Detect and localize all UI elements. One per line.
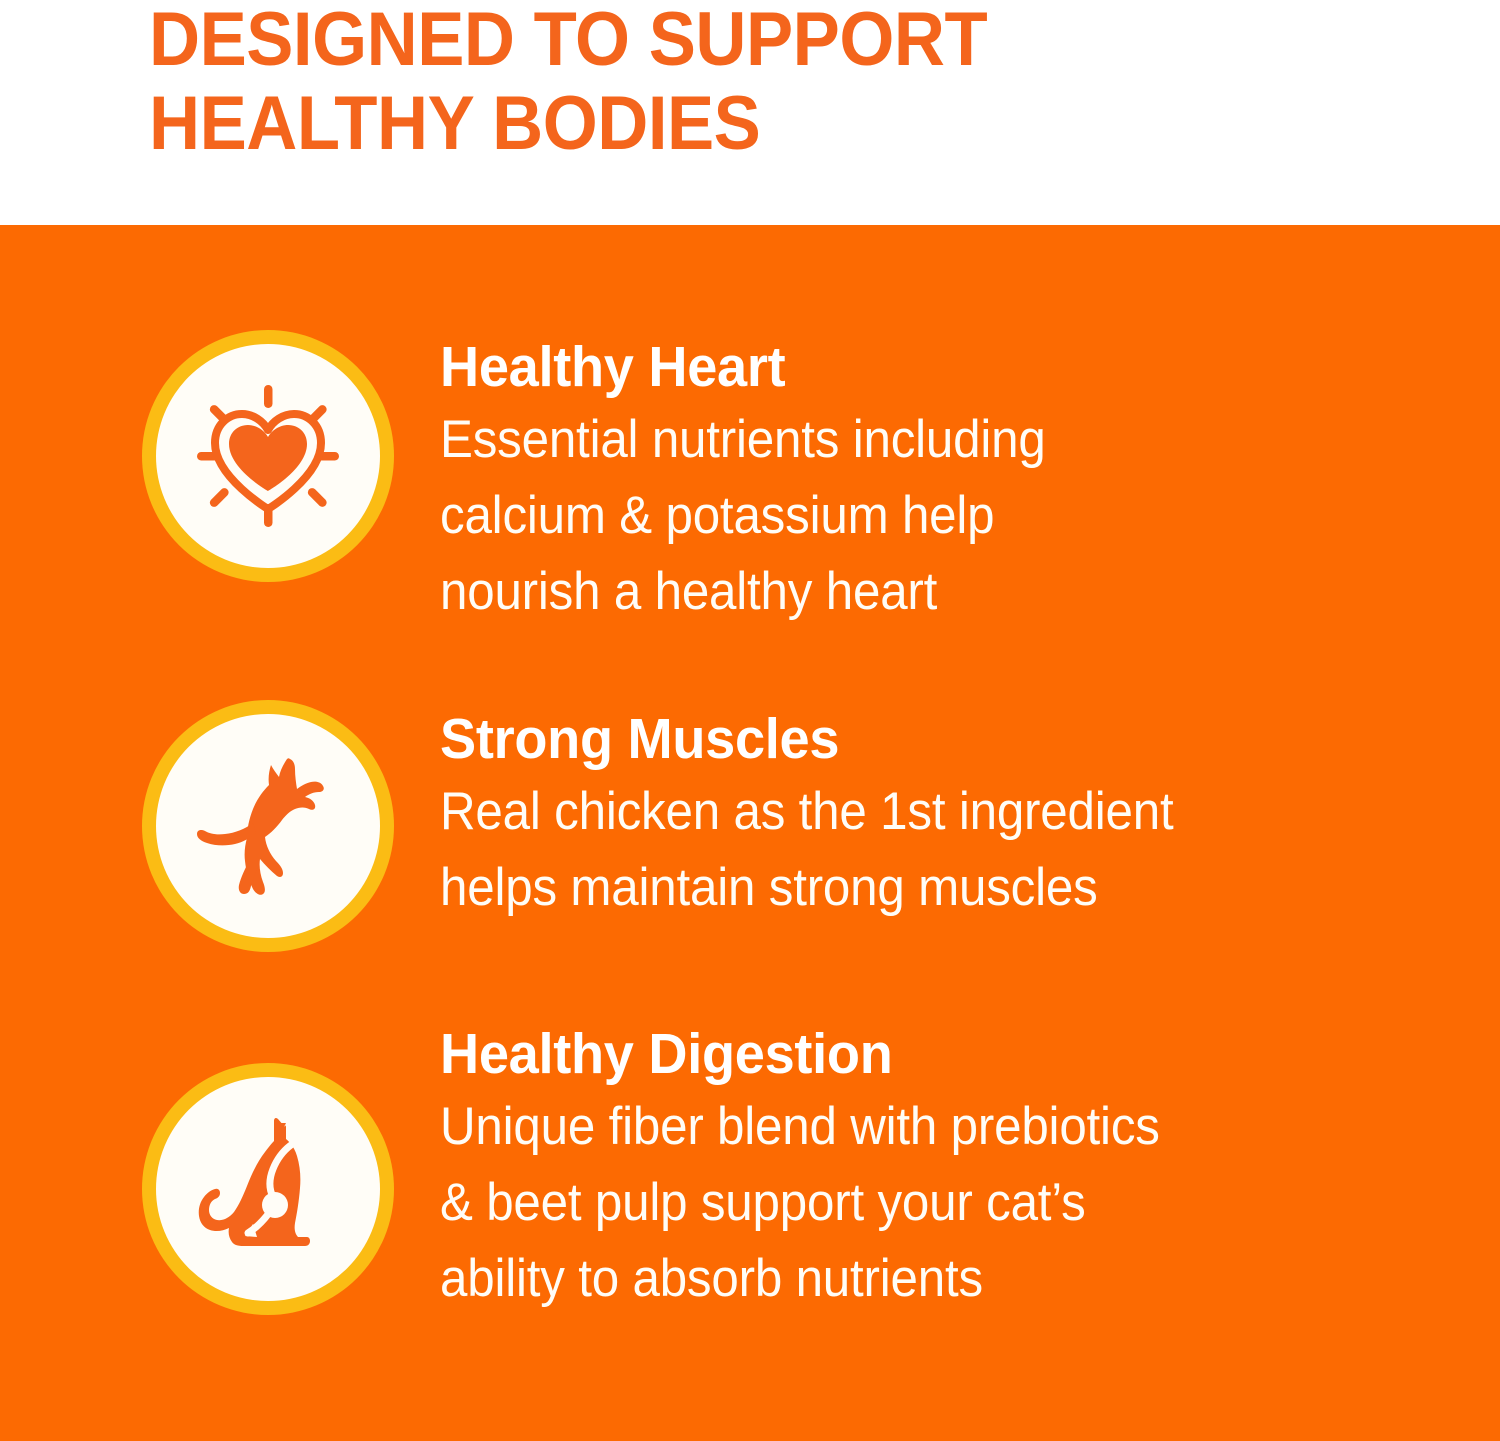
sitting-cat-digestion-icon	[183, 1109, 353, 1269]
feature-row: Healthy Heart Essential nutrients includ…	[0, 330, 1500, 630]
icon-circle-inner	[156, 714, 380, 938]
header-band: DESIGNED TO SUPPORT HEALTHY BODIES	[0, 0, 1500, 225]
feature-text-block: Strong Muscles Real chicken as the 1st i…	[440, 708, 1450, 926]
feature-body: Real chicken as the 1st ingredient helps…	[440, 774, 1379, 926]
page-title: DESIGNED TO SUPPORT HEALTHY BODIES	[149, 0, 1265, 166]
feature-heading: Healthy Digestion	[440, 1023, 1400, 1085]
radiant-heart-icon	[193, 381, 343, 531]
feature-text-block: Healthy Heart Essential nutrients includ…	[440, 336, 1450, 630]
icon-badge-strong-muscles	[142, 700, 394, 952]
icon-circle-inner	[156, 344, 380, 568]
feature-row: Healthy Digestion Unique fiber blend wit…	[0, 1045, 1500, 1345]
feature-row: Strong Muscles Real chicken as the 1st i…	[0, 700, 1500, 990]
feature-body: Essential nutrients including calcium & …	[440, 402, 1379, 630]
feature-heading: Strong Muscles	[440, 708, 1400, 770]
feature-body: Unique fiber blend with prebiotics & bee…	[440, 1089, 1379, 1317]
icon-badge-healthy-heart	[142, 330, 394, 582]
icon-circle-inner	[156, 1077, 380, 1301]
leaping-cat-icon	[183, 741, 353, 911]
infographic-poster: DESIGNED TO SUPPORT HEALTHY BODIES	[0, 0, 1500, 1441]
feature-text-block: Healthy Digestion Unique fiber blend wit…	[440, 1023, 1450, 1317]
icon-badge-healthy-digestion	[142, 1063, 394, 1315]
feature-heading: Healthy Heart	[440, 336, 1400, 398]
